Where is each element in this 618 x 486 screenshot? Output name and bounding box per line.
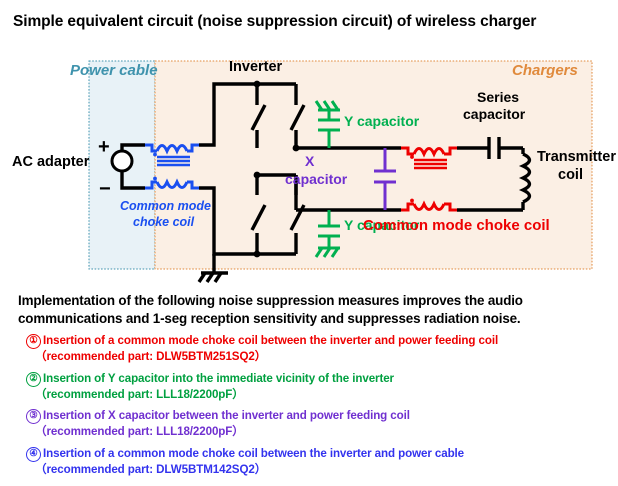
circuit-diagram: Power cable Chargers AC adapter + − Comm… [0, 58, 618, 286]
blue-choke-label-line1: Common mode [120, 199, 211, 213]
x-capacitor-label-line1: X [305, 153, 315, 169]
measure-item-2: ②Insertion of Y capacitor into the immed… [18, 371, 608, 403]
measure-text-1: Insertion of a common mode choke coil be… [43, 334, 498, 347]
blue-choke-label-line2: choke coil [133, 215, 195, 229]
measure-text-4: Insertion of a common mode choke coil be… [43, 447, 464, 460]
minus-sign: − [99, 178, 111, 200]
measure-number-3: ③ [26, 409, 41, 424]
inverter-label: Inverter [229, 59, 283, 75]
y-capacitor-top-label: Y capacitor [344, 113, 420, 129]
transmitter-coil-label-line2: coil [558, 167, 583, 183]
measure-number-1: ① [26, 334, 41, 349]
page-title: Simple equivalent circuit (noise suppres… [13, 13, 536, 31]
lead-line-2: communications and 1-seg reception sensi… [18, 310, 608, 328]
transmitter-coil-label-line1: Transmitter [537, 149, 616, 165]
measure-part-2: （recommended part: LLL18/2200pF） [26, 387, 608, 403]
measure-number-2: ② [26, 372, 41, 387]
measure-item-4: ④Insertion of a common mode choke coil b… [18, 446, 608, 478]
red-choke-label: Common mode choke coil [363, 217, 550, 234]
measure-text-3: Insertion of X capacitor between the inv… [43, 409, 410, 422]
chargers-label: Chargers [512, 62, 578, 79]
power-cable-label: Power cable [70, 62, 158, 79]
measure-part-3: （recommended part: LLL18/2200pF） [26, 424, 608, 440]
measure-item-1: ①Insertion of a common mode choke coil b… [18, 333, 608, 365]
series-capacitor-label-line1: Series [477, 89, 519, 105]
measure-part-4: （recommended part: DLW5BTM142SQ2） [26, 462, 608, 478]
measure-number-4: ④ [26, 447, 41, 462]
x-capacitor-label-line2: capacitor [285, 171, 348, 187]
explanation-block: Implementation of the following noise su… [18, 292, 608, 477]
measure-part-1: （recommended part: DLW5BTM251SQ2） [26, 349, 608, 365]
series-capacitor-label-line2: capacitor [463, 106, 526, 122]
measure-item-3: ③Insertion of X capacitor between the in… [18, 408, 608, 440]
lead-line-1: Implementation of the following noise su… [18, 292, 608, 310]
measure-text-2: Insertion of Y capacitor into the immedi… [43, 372, 394, 385]
plus-sign: + [98, 136, 110, 158]
ac-adapter-label: AC adapter [12, 154, 90, 170]
